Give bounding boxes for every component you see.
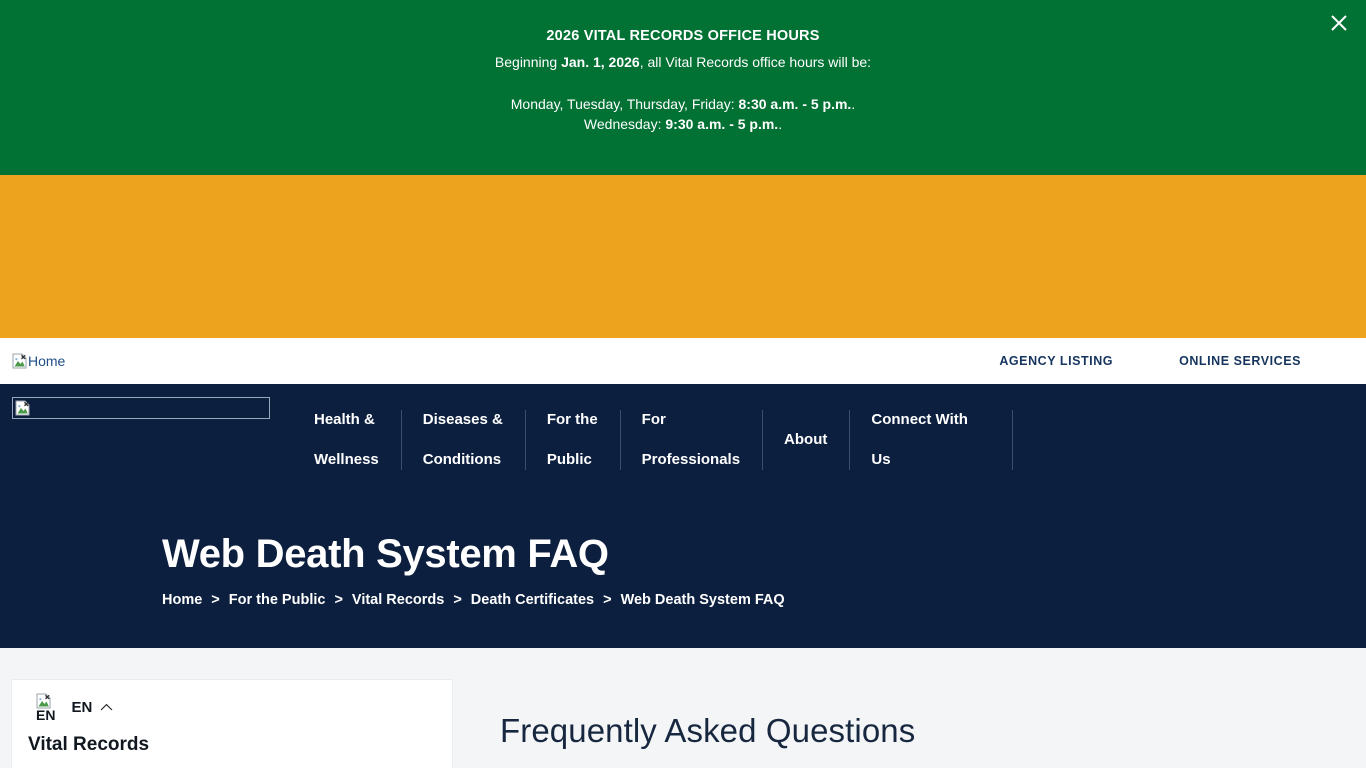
- alert-banner-amendment-requests: IN-PERSON AMENDMENT REQUESTS AT REGIONAL…: [0, 175, 1366, 338]
- breadcrumb-item-home[interactable]: Home: [162, 592, 202, 608]
- nav-divider: [1012, 384, 1013, 496]
- breadcrumb-separator: >: [453, 592, 461, 608]
- content-area: EN EN Vital Records: [0, 648, 1366, 768]
- alert-text: Wednesday:: [584, 116, 665, 132]
- site-logo[interactable]: [12, 397, 270, 419]
- nav-item-diseases-conditions[interactable]: Diseases &Conditions: [401, 384, 525, 496]
- alert-line-1: Beginning Jan. 1, 2026, all Vital Record…: [0, 52, 1366, 72]
- agency-listing-link[interactable]: AGENCY LISTING: [966, 354, 1146, 368]
- alert-hours: 8:30 a.m. - 5 p.m.: [739, 96, 852, 112]
- nav-item-health-wellness[interactable]: Health &Wellness: [292, 384, 401, 496]
- home-link-label: Home: [28, 353, 65, 369]
- close-icon[interactable]: [1324, 8, 1354, 38]
- alert-date: Jan. 1, 2026: [561, 54, 640, 70]
- nav-label-line1: For: [642, 410, 740, 430]
- breadcrumb-item-death-certificates[interactable]: Death Certificates: [471, 592, 594, 608]
- faq-heading: Frequently Asked Questions: [500, 712, 915, 750]
- nav-item-for-the-public[interactable]: For thePublic: [525, 384, 620, 496]
- nav-label-line2: Public: [547, 450, 598, 470]
- nav-item-about[interactable]: About: [762, 384, 849, 496]
- flag-alt-text: EN: [36, 709, 55, 722]
- page-root: 2026 VITAL RECORDS OFFICE HOURS Beginnin…: [0, 0, 1366, 768]
- alert-banner-office-hours: 2026 VITAL RECORDS OFFICE HOURS Beginnin…: [0, 0, 1366, 175]
- breadcrumb-item-vital-records[interactable]: Vital Records: [352, 592, 444, 608]
- flag-icon: EN: [36, 693, 55, 722]
- alert-line-3: Wednesday: 9:30 a.m. - 5 p.m..: [0, 114, 1366, 134]
- language-code: EN: [71, 699, 92, 716]
- nav-label-line2: Wellness: [314, 450, 379, 470]
- sidebar-title: Vital Records: [28, 734, 149, 756]
- alert-line-2: Monday, Tuesday, Thursday, Friday: 8:30 …: [0, 94, 1366, 114]
- breadcrumb-separator: >: [211, 592, 219, 608]
- language-selector[interactable]: EN EN: [20, 680, 142, 735]
- alert-text: Monday, Tuesday, Thursday, Friday:: [511, 96, 739, 112]
- broken-image-icon: [12, 353, 28, 369]
- nav-label-line1: Health &: [314, 410, 379, 430]
- breadcrumb: Home > For the Public > Vital Records > …: [162, 592, 785, 608]
- nav-label-line1: Connect With: [871, 410, 968, 430]
- page-hero: Web Death System FAQ Home > For the Publ…: [0, 496, 1366, 648]
- nav-label-line1: Diseases &: [423, 410, 503, 430]
- broken-image-icon: [13, 399, 33, 417]
- alert-text: Beginning: [495, 54, 561, 70]
- utility-bar: Home AGENCY LISTING ONLINE SERVICES: [0, 338, 1366, 384]
- nav-label-line1: About: [784, 430, 827, 450]
- alert-hours: 9:30 a.m. - 5 p.m.: [665, 116, 778, 132]
- breadcrumb-separator: >: [334, 592, 342, 608]
- home-link[interactable]: Home: [12, 353, 65, 369]
- breadcrumb-item-for-the-public[interactable]: For the Public: [229, 592, 326, 608]
- page-title: Web Death System FAQ: [162, 532, 609, 577]
- nav-label-line2: Conditions: [423, 450, 503, 470]
- nav-label-line2: Professionals: [642, 450, 740, 470]
- nav-item-list: Health &Wellness Diseases &Conditions Fo…: [292, 384, 1013, 496]
- online-services-link[interactable]: ONLINE SERVICES: [1146, 354, 1334, 368]
- breadcrumb-item-current: Web Death System FAQ: [621, 592, 785, 608]
- breadcrumb-separator: >: [603, 592, 611, 608]
- alert-text: .: [851, 96, 855, 112]
- nav-item-connect-with-us[interactable]: Connect WithUs: [849, 384, 990, 496]
- nav-label-line2: Us: [871, 450, 968, 470]
- alert-text: , all Vital Records office hours will be…: [640, 54, 871, 70]
- alert-title: 2026 VITAL RECORDS OFFICE HOURS: [0, 26, 1366, 46]
- main-navigation: Health &Wellness Diseases &Conditions Fo…: [0, 384, 1366, 496]
- alert-text: .: [778, 116, 782, 132]
- nav-label-line1: For the: [547, 410, 598, 430]
- utility-links: AGENCY LISTING ONLINE SERVICES: [966, 354, 1334, 368]
- chevron-up-icon[interactable]: [100, 699, 113, 717]
- nav-item-for-professionals[interactable]: ForProfessionals: [620, 384, 762, 496]
